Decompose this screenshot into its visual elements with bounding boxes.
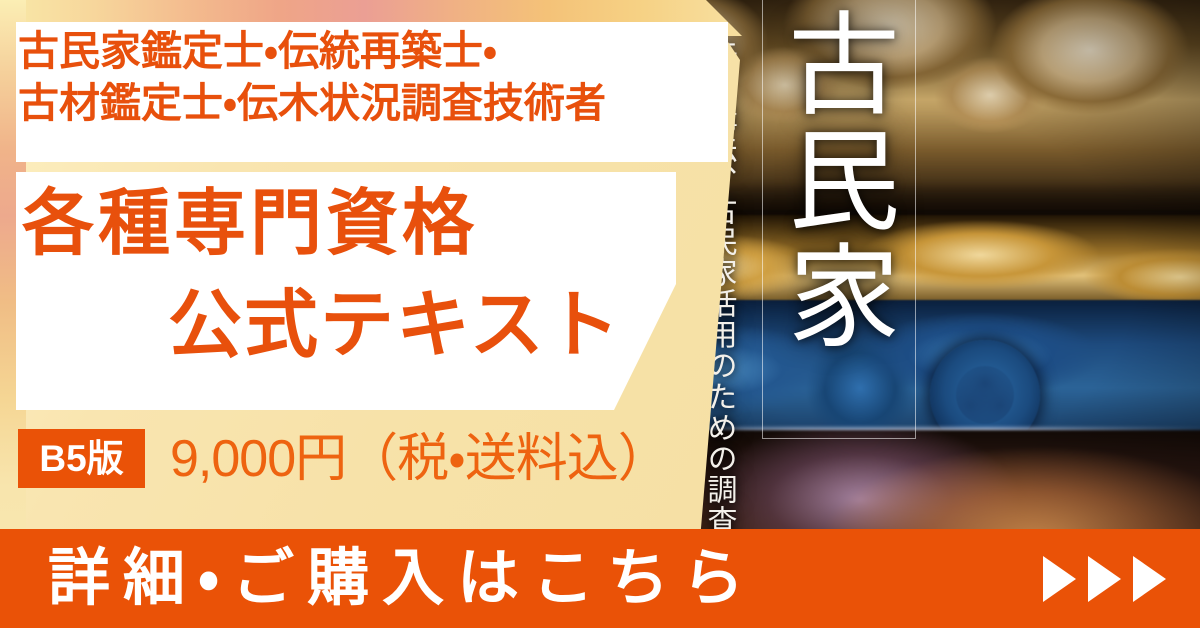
headline-line-1: 各種専門資格 bbox=[22, 188, 478, 260]
format-badge-label: B5版 bbox=[39, 440, 123, 477]
qualifications-text: 古民家鑑定士・伝統再築士・ 古材鑑定士・伝木状況調査技術者 bbox=[18, 26, 718, 129]
promo-banner: 古民家 伝統構法、古民家活用のための調査と再生の 古民家鑑定士・伝統再築士・ 古… bbox=[0, 0, 1200, 628]
qualifications-line-2: 古材鑑定士・伝木状況調査技術者 bbox=[18, 78, 718, 130]
book-title: 古民家 bbox=[780, 6, 898, 354]
format-badge: B5版 bbox=[18, 429, 145, 488]
qualifications-line-1: 古民家鑑定士・伝統再築士・ bbox=[18, 28, 497, 74]
triangle-right-icon bbox=[1133, 556, 1166, 602]
triangle-right-icon bbox=[1043, 556, 1076, 602]
cta-arrows bbox=[1043, 556, 1166, 602]
cta-label[interactable]: 詳細・ご購入はこちら bbox=[48, 548, 757, 610]
headline-line-2: 公式テキスト bbox=[168, 288, 622, 362]
price-text: 9,000円（税・送料込） bbox=[170, 430, 669, 488]
triangle-right-icon bbox=[1088, 556, 1121, 602]
cta-bar[interactable]: 詳細・ご購入はこちら bbox=[0, 529, 1200, 628]
